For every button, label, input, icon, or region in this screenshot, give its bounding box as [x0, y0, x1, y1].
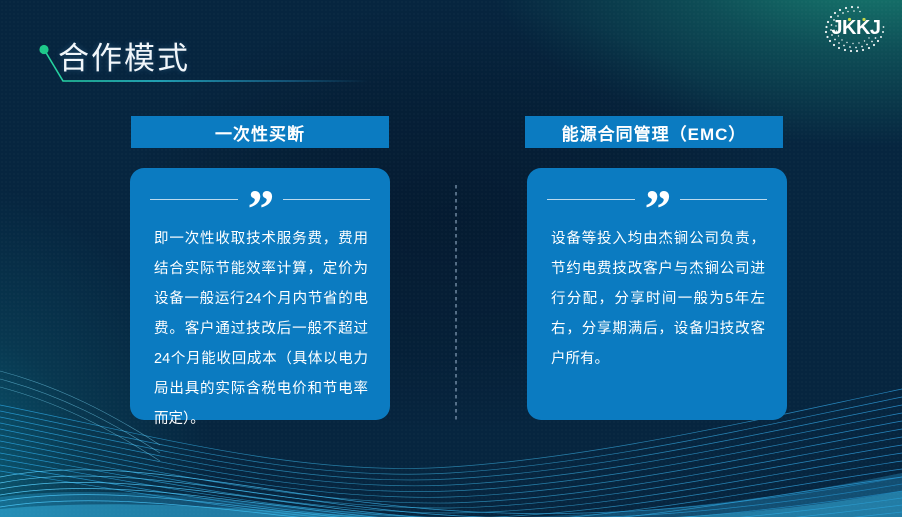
jkkj-logo: JKKJ — [818, 2, 894, 56]
card-one-time-buyout-text: 即一次性收取技术服务费，费用结合实际节能效率计算，定价为设备一般运行24个月内节… — [154, 224, 368, 434]
card-emc-body: ” 设备等投入均由杰锏公司负责，节约电费技改客户与杰锏公司进行分配，分享时间一般… — [527, 168, 787, 420]
page-title: 合作模式 — [58, 40, 190, 78]
card-one-time-buyout-header[interactable]: 一次性买断 — [131, 116, 389, 148]
card-emc-text: 设备等投入均由杰锏公司负责，节约电费技改客户与杰锏公司进行分配，分享时间一般为5… — [551, 224, 765, 374]
quote-rule-left — [547, 199, 635, 200]
quote-decoration-row: ” — [547, 182, 767, 216]
page-title-block: 合作模式 — [38, 42, 368, 90]
quote-rule-left — [150, 199, 238, 200]
card-emc-header[interactable]: 能源合同管理（EMC） — [525, 116, 783, 148]
svg-text:JKKJ: JKKJ — [831, 17, 880, 39]
slide-canvas: JKKJ 合作模式 一次 — [0, 0, 902, 517]
card-one-time-buyout-body: ” 即一次性收取技术服务费，费用结合实际节能效率计算，定价为设备一般运行24个月… — [130, 168, 390, 420]
column-divider — [455, 185, 457, 423]
quote-rule-right — [680, 199, 768, 200]
quote-decoration-row: ” — [150, 182, 370, 216]
quote-rule-right — [283, 199, 371, 200]
